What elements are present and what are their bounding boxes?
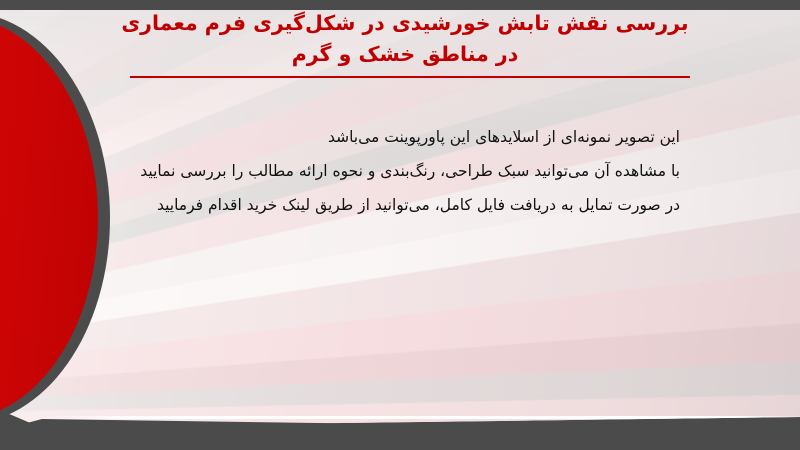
title-underline-rule xyxy=(130,76,690,78)
slide-title: بررسی نقش تابش خورشیدی در شکل‌گیری فرم م… xyxy=(120,8,690,70)
presentation-slide: بررسی نقش تابش خورشیدی در شکل‌گیری فرم م… xyxy=(0,0,800,450)
slide-body-text: این تصویر نمونه‌ای از اسلایدهای این پاور… xyxy=(120,120,680,222)
slide-title-line-1: بررسی نقش تابش خورشیدی در شکل‌گیری فرم م… xyxy=(120,8,690,39)
body-text-line-3: در صورت تمایل به دریافت فایل کامل، می‌تو… xyxy=(120,188,680,222)
body-text-line-1: این تصویر نمونه‌ای از اسلایدهای این پاور… xyxy=(120,120,680,154)
slide-title-line-2: در مناطق خشک و گرم xyxy=(120,39,690,70)
body-text-line-2: با مشاهده آن می‌توانید سبک طراحی، رنگ‌بن… xyxy=(120,154,680,188)
